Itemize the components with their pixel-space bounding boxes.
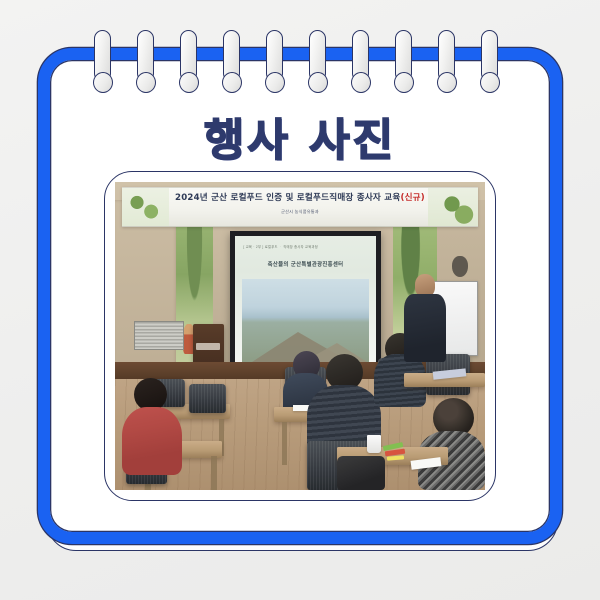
event-photo: 2024년 군산 로컬푸드 인증 및 로컬푸드직매장 종사자 교육(신규) 군산… bbox=[115, 182, 485, 490]
chair bbox=[189, 384, 226, 413]
banner-subtitle: 군산시 농식품유통과 bbox=[122, 209, 477, 215]
presenter-body bbox=[404, 294, 447, 362]
slide-title: 축산물의 군산특별관광진흥센터 bbox=[235, 260, 376, 268]
banner-title-highlight: (신규) bbox=[400, 193, 424, 203]
page-title: 행사 사진 bbox=[0, 104, 600, 168]
event-banner: 2024년 군산 로컬푸드 인증 및 로컬푸드직매장 종사자 교육(신규) 군산… bbox=[122, 187, 477, 228]
poster-canvas: 행사 사진 2024년 군산 로컬푸드 인증 및 로컬푸드직매장 종사자 교육(… bbox=[0, 0, 600, 600]
slide-eyebrow: [ 교육 · 2부 ] 로컬푸드 ㆍ 직매장 종사자 교육과정 bbox=[243, 244, 318, 249]
black-bag bbox=[337, 456, 385, 490]
desk-leg bbox=[282, 422, 287, 465]
paper-cup bbox=[367, 435, 382, 453]
desk-leg bbox=[211, 456, 217, 490]
photo-frame[interactable]: 2024년 군산 로컬푸드 인증 및 로컬푸드직매장 종사자 교육(신규) 군산… bbox=[104, 171, 496, 501]
wall-vent bbox=[134, 321, 184, 351]
banner-title-main: 2024년 군산 로컬푸드 인증 및 로컬푸드직매장 종사자 교육 bbox=[175, 193, 400, 203]
slide-image bbox=[242, 279, 369, 362]
attendee-body bbox=[122, 407, 181, 475]
banner-title: 2024년 군산 로컬푸드 인증 및 로컬푸드직매장 종사자 교육(신규) bbox=[122, 191, 477, 203]
